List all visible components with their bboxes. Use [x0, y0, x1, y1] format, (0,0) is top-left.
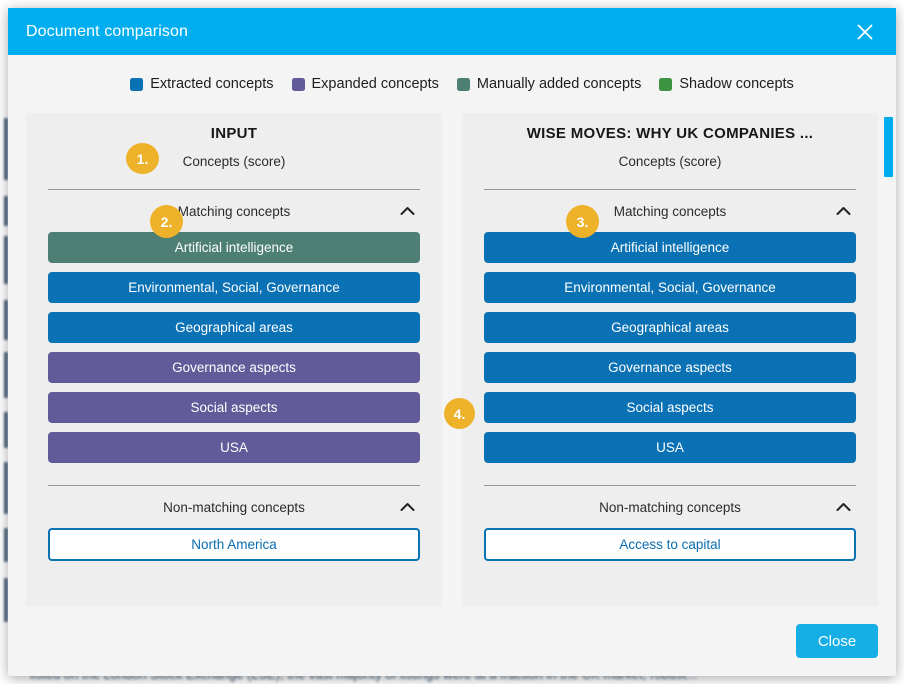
legend-item-expanded: Expanded concepts	[292, 76, 439, 92]
concept-pill[interactable]: Governance aspects	[48, 352, 420, 383]
dialog-title: Document comparison	[26, 23, 188, 41]
right-non-matching-concepts: Access to capital	[484, 528, 856, 561]
chevron-up-icon[interactable]	[398, 202, 416, 220]
right-non-matching-section-header[interactable]: Non-matching concepts	[484, 486, 856, 528]
concept-label: Environmental, Social, Governance	[128, 280, 340, 295]
close-button[interactable]: Close	[796, 624, 878, 658]
color-swatch-icon	[659, 78, 672, 91]
dialog-titlebar: Document comparison	[8, 8, 896, 55]
left-pane: INPUT Concepts (score) Matching concepts	[26, 113, 442, 606]
concept-label: Artificial intelligence	[611, 240, 730, 255]
concept-pill[interactable]: USA	[484, 432, 856, 463]
concept-pill[interactable]: Artificial intelligence	[484, 232, 856, 263]
section-label: Matching concepts	[178, 204, 291, 219]
chevron-up-icon[interactable]	[834, 498, 852, 516]
right-matching-section-header[interactable]: Matching concepts	[484, 190, 856, 232]
callout-badge-1: 1.	[126, 143, 159, 174]
right-pane-title: WISE MOVES: WHY UK COMPANIES ...	[484, 125, 856, 145]
concept-label: USA	[220, 440, 248, 455]
concept-pill[interactable]: Geographical areas	[48, 312, 420, 343]
dialog-footer: Close	[8, 606, 896, 676]
right-pane: WISE MOVES: WHY UK COMPANIES ... Concept…	[462, 113, 878, 606]
concept-label: Geographical areas	[175, 320, 293, 335]
legend-label: Manually added concepts	[477, 76, 641, 92]
left-matching-section-header[interactable]: Matching concepts	[48, 190, 420, 232]
left-pane-subtitle: Concepts (score)	[48, 154, 420, 172]
concept-pill[interactable]: North America	[48, 528, 420, 561]
concept-pill[interactable]: Social aspects	[48, 392, 420, 423]
dialog-body: Extracted concepts Expanded concepts Man…	[8, 55, 896, 606]
concept-pill[interactable]: Governance aspects	[484, 352, 856, 383]
color-swatch-icon	[130, 78, 143, 91]
concept-label: USA	[656, 440, 684, 455]
pane-separator	[442, 113, 462, 606]
left-pane-title: INPUT	[48, 125, 420, 145]
legend-item-shadow: Shadow concepts	[659, 76, 793, 92]
close-x-icon[interactable]	[848, 15, 882, 49]
concept-label: Geographical areas	[611, 320, 729, 335]
legend-item-extracted: Extracted concepts	[130, 76, 273, 92]
left-non-matching-section-header[interactable]: Non-matching concepts	[48, 486, 420, 528]
chevron-up-icon[interactable]	[834, 202, 852, 220]
concept-label: Environmental, Social, Governance	[564, 280, 776, 295]
concept-pill[interactable]: Access to capital	[484, 528, 856, 561]
concept-label: Access to capital	[619, 537, 720, 552]
concept-label: Social aspects	[626, 400, 713, 415]
concept-type-legend: Extracted concepts Expanded concepts Man…	[8, 55, 896, 113]
comparison-scrollbar-track[interactable]	[882, 113, 894, 606]
concept-pill[interactable]: Artificial intelligence	[48, 232, 420, 263]
right-pane-subtitle: Concepts (score)	[484, 154, 856, 172]
concept-pill[interactable]: Environmental, Social, Governance	[48, 272, 420, 303]
callout-badge-4: 4.	[444, 398, 475, 429]
section-label: Matching concepts	[614, 204, 727, 219]
callout-badge-2: 2.	[150, 205, 183, 238]
concept-label: North America	[191, 537, 277, 552]
concept-pill[interactable]: Social aspects	[484, 392, 856, 423]
legend-item-manually-added: Manually added concepts	[457, 76, 641, 92]
left-matching-concepts: Artificial intelligence Environmental, S…	[48, 232, 420, 463]
comparison-panes: INPUT Concepts (score) Matching concepts	[26, 113, 878, 606]
concept-pill[interactable]: Geographical areas	[484, 312, 856, 343]
concept-label: Social aspects	[190, 400, 277, 415]
section-label: Non-matching concepts	[163, 500, 305, 515]
callout-badge-3: 3.	[566, 205, 599, 238]
concept-label: Artificial intelligence	[175, 240, 294, 255]
legend-label: Extracted concepts	[150, 76, 273, 92]
concept-label: Governance aspects	[172, 360, 296, 375]
concept-pill[interactable]: Environmental, Social, Governance	[484, 272, 856, 303]
color-swatch-icon	[292, 78, 305, 91]
section-label: Non-matching concepts	[599, 500, 741, 515]
color-swatch-icon	[457, 78, 470, 91]
right-matching-concepts: Artificial intelligence Environmental, S…	[484, 232, 856, 463]
legend-label: Expanded concepts	[312, 76, 439, 92]
concept-pill[interactable]: USA	[48, 432, 420, 463]
chevron-up-icon[interactable]	[398, 498, 416, 516]
legend-label: Shadow concepts	[679, 76, 793, 92]
left-non-matching-concepts: North America	[48, 528, 420, 561]
concept-label: Governance aspects	[608, 360, 732, 375]
comparison-scrollbar-thumb[interactable]	[884, 117, 893, 177]
document-comparison-dialog: Document comparison Extracted concepts E…	[8, 8, 896, 676]
